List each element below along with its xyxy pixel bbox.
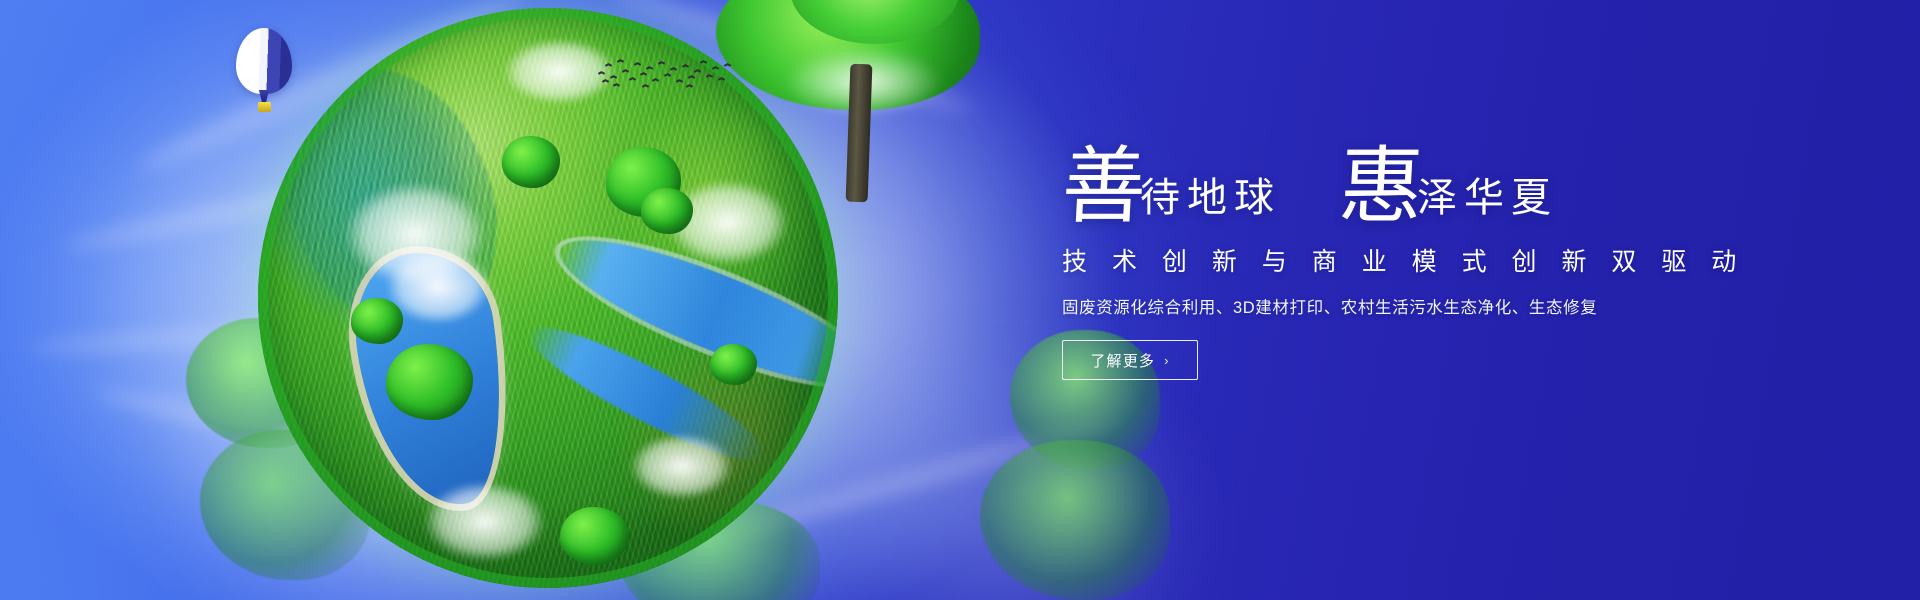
bird-icon: [688, 74, 695, 78]
bird-icon: [629, 76, 636, 80]
balloon-basket: [258, 102, 271, 112]
bird-icon: [602, 78, 609, 82]
bird-icon: [682, 63, 689, 67]
bird-icon: [712, 65, 719, 69]
bird-icon: [610, 74, 617, 78]
bird-icon: [670, 66, 677, 70]
chevron-right-icon: ›: [1164, 353, 1170, 368]
large-tree-on-globe: [698, 0, 998, 200]
hero-subtitle: 技 术 创 新 与 商 业 模 式 创 新 双 驱 动: [1062, 242, 1762, 278]
page-title: 善 待地球 惠 泽华夏: [1062, 128, 1762, 224]
headline-rest-1: 待地球: [1140, 178, 1281, 224]
bird-icon: [634, 61, 641, 65]
hero-description: 固废资源化综合利用、3D建材打印、农村生活污水生态净化、生态修复: [1062, 294, 1762, 318]
bird-icon: [646, 65, 653, 69]
headline-rest-2: 泽华夏: [1417, 178, 1558, 224]
bird-icon: [724, 62, 731, 66]
eco-hero-banner: 善 待地球 惠 泽华夏 技 术 创 新 与 商 业 模 式 创 新 双 驱 动 …: [0, 0, 1920, 600]
headline-lead-char-1: 善: [1060, 153, 1148, 224]
bird-icon: [718, 76, 725, 80]
bird-icon: [598, 70, 605, 74]
headline-lead-char-2: 惠: [1337, 153, 1425, 224]
hero-copy-block: 善 待地球 惠 泽华夏 技 术 创 新 与 商 业 模 式 创 新 双 驱 动 …: [1062, 128, 1762, 380]
bird-icon: [605, 62, 612, 66]
learn-more-button[interactable]: 了解更多 ›: [1062, 340, 1198, 380]
bird-icon: [622, 68, 629, 72]
bird-icon: [652, 77, 659, 81]
bird-icon: [664, 72, 671, 76]
bird-icon: [658, 60, 665, 64]
bird-icon: [617, 58, 624, 62]
green-planet-globe: [258, 8, 838, 588]
balloon-neck: [259, 90, 269, 102]
bird-icon: [642, 83, 649, 87]
bird-icon: [706, 73, 713, 77]
learn-more-label: 了解更多: [1090, 350, 1155, 371]
bird-icon: [686, 83, 693, 87]
balloon-envelope: [236, 28, 292, 94]
flying-birds-flock: [596, 52, 732, 92]
bird-icon: [700, 59, 707, 63]
hot-air-balloon-icon: [236, 28, 292, 118]
tree-trunk: [846, 64, 873, 203]
bird-icon: [676, 78, 683, 82]
foliage-silhouette: [980, 440, 1170, 600]
bird-icon: [640, 71, 647, 75]
bird-icon: [613, 82, 620, 86]
bird-icon: [694, 68, 701, 72]
